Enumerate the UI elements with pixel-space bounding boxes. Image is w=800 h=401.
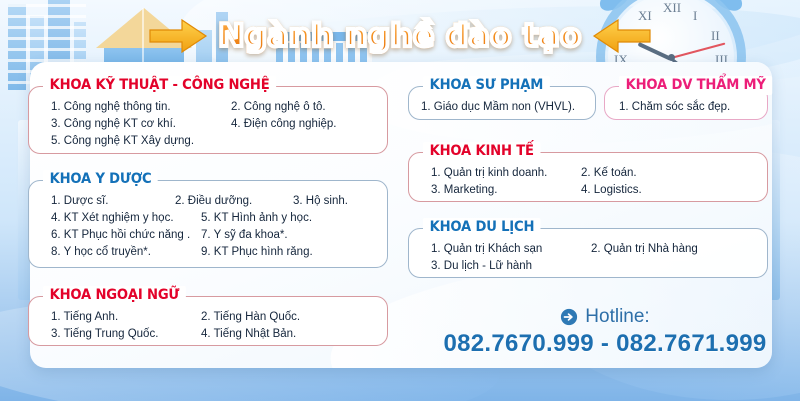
page-title: Ngành nghề đào tạo [218,18,581,54]
department-card-y-duoc[interactable]: KHOA Y DƯỢC 1. Dược sĩ. 2. Điều dưỡng. 3… [28,180,388,268]
program-item: 4. Điện công nghiệp. [231,116,337,133]
program-item: 4. Logistics. [581,182,642,199]
program-item: 8. Y học cổ truyền*. [51,244,201,261]
department-title: KHOA DV THẨM MỸ [619,76,772,95]
program-item: 1. Quản trị kinh doanh. [431,165,581,182]
program-item: 4. KT Xét nghiệm y học. [51,210,201,227]
program-item: 3. Marketing. [431,182,581,199]
department-card-ky-thuat-cong-nghe[interactable]: KHOA KỸ THUẬT - CÔNG NGHỆ 1. Công nghệ t… [28,86,388,154]
program-item: 1. Giáo dục Mầm non (VHVL). [421,99,575,116]
department-title: KHOA DU LỊCH [423,218,541,237]
program-item: 9. KT Phục hình răng. [201,244,313,261]
program-item: 1. Quản trị Khách sạn [431,241,591,258]
program-item: 3. Hộ sinh. [293,193,348,210]
program-item: 2. Điều dưỡng. [175,193,293,210]
arrow-left-orange-icon [592,18,652,54]
program-item: 5. KT Hình ảnh y học. [201,210,312,227]
arrow-circle-right-icon [560,308,578,326]
program-item: 3. Du lịch - Lữ hành [431,258,532,275]
program-item: 1. Chăm sóc sắc đẹp. [619,99,730,116]
program-item: 1. Công nghệ thông tin. [51,99,231,116]
program-item: 1. Dược sĩ. [51,193,175,210]
program-item: 3. Công nghệ KT cơ khí. [51,116,231,133]
hotline-numbers: 082.7670.999 - 082.7671.999 [430,330,780,358]
department-title: KHOA Y DƯỢC [43,170,158,189]
program-item: 2. Tiếng Hàn Quốc. [201,309,300,326]
program-item: 2. Quản trị Nhà hàng [591,241,698,258]
poster-root: XII I II III IIII V VI VII VIII IX X XI [0,0,800,401]
program-item: 4. Tiếng Nhật Bản. [201,326,296,343]
department-card-su-pham[interactable]: KHOA SƯ PHẠM 1. Giáo dục Mầm non (VHVL). [408,86,596,120]
department-title: KHOA KINH TẾ [423,142,540,161]
program-item: 7. Y sỹ đa khoa*. [201,227,288,244]
program-item: 2. Kế toán. [581,165,637,182]
department-card-dv-tham-my[interactable]: KHOA DV THẨM MỸ 1. Chăm sóc sắc đẹp. [604,86,768,120]
arrow-right-orange-icon [148,18,208,54]
program-item: 6. KT Phục hồi chức năng . [51,227,201,244]
department-title: KHOA KỸ THUẬT - CÔNG NGHỆ [43,76,276,95]
department-card-kinh-te[interactable]: KHOA KINH TẾ 1. Quản trị kinh doanh. 2. … [408,152,768,202]
department-title: KHOA SƯ PHẠM [423,76,550,95]
hotline-block[interactable]: Hotline: 082.7670.999 - 082.7671.999 [430,306,780,358]
department-title: KHOA NGOẠI NGỮ [43,286,186,305]
program-item: 2. Công nghệ ô tô. [231,99,326,116]
program-item: 5. Công nghệ KT Xây dựng. [51,133,194,150]
program-item: 3. Tiếng Trung Quốc. [51,326,201,343]
department-card-ngoai-ngu[interactable]: KHOA NGOẠI NGỮ 1. Tiếng Anh. 2. Tiếng Hà… [28,296,388,346]
program-item: 1. Tiếng Anh. [51,309,201,326]
department-card-du-lich[interactable]: KHOA DU LỊCH 1. Quản trị Khách sạn 2. Qu… [408,228,768,278]
banner-title-row: Ngành nghề đào tạo [0,10,800,62]
hotline-label: Hotline: [585,306,649,328]
